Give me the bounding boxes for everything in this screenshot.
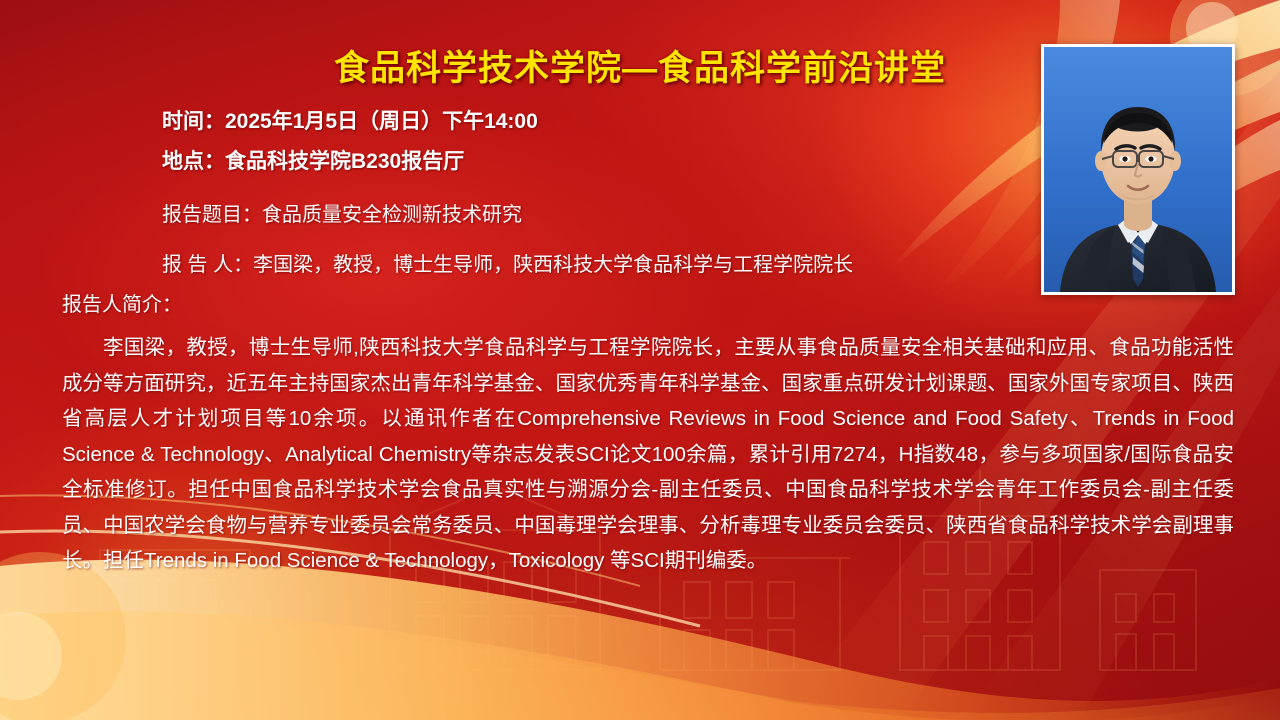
speaker-bio-label: 报告人简介： (62, 288, 182, 317)
portrait-illustration (1044, 47, 1232, 292)
speaker-photo-frame (1041, 44, 1235, 295)
poster-content: 食品科学技术学院—食品科学前沿讲堂 时间：2025年1月5日（周日）下午14:0… (0, 0, 1280, 720)
lecture-speaker: 报 告 人：李国梁，教授，博士生导师，陕西科技大学食品科学与工程学院院长 (162, 248, 853, 277)
event-location: 地点：食品科技学院B230报告厅 (162, 145, 464, 175)
speaker-bio-paragraph: 李国梁，教授，博士生导师,陕西科技大学食品科学与工程学院院长，主要从事食品质量安… (62, 330, 1234, 579)
speaker-photo (1044, 47, 1232, 292)
event-time: 时间：2025年1月5日（周日）下午14:00 (162, 105, 538, 135)
poster-canvas: 食品科学技术学院—食品科学前沿讲堂 时间：2025年1月5日（周日）下午14:0… (0, 0, 1280, 720)
speaker-bio-body: 李国梁，教授，博士生导师,陕西科技大学食品科学与工程学院院长，主要从事食品质量安… (62, 330, 1234, 579)
lecture-topic: 报告题目：食品质量安全检测新技术研究 (162, 198, 522, 227)
